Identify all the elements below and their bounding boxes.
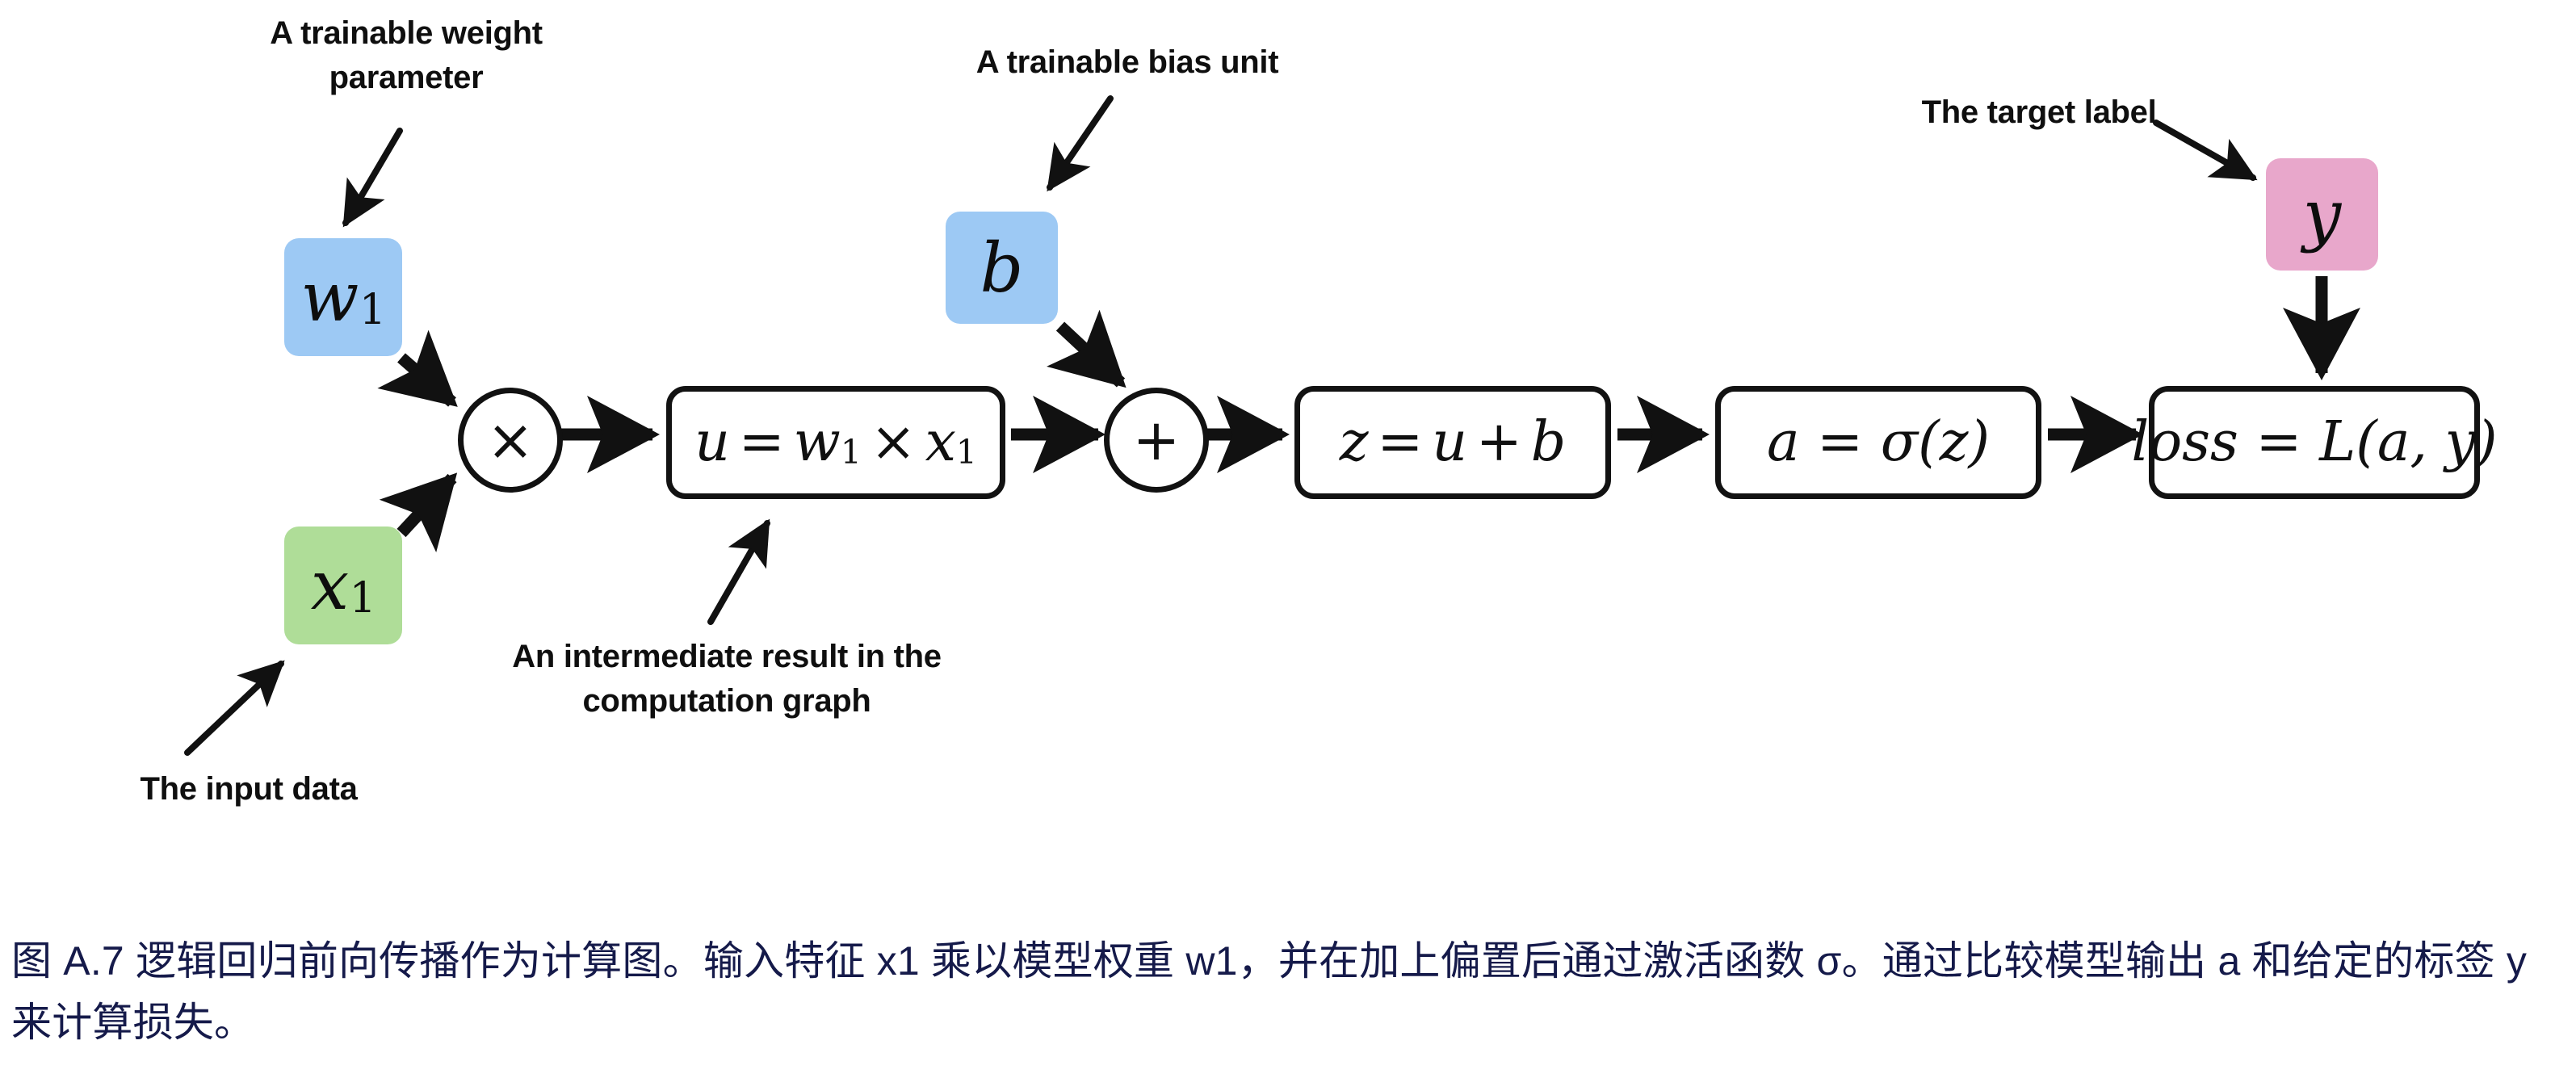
variable-base-y: y — [2303, 181, 2341, 249]
formula-z-operator: + — [1467, 415, 1531, 470]
formula-u-operator: × — [862, 415, 925, 470]
formula-box-a: a = σ(z) — [1715, 386, 2041, 499]
leader-weight-annotation — [346, 131, 400, 223]
variable-tile-x1: x1 — [284, 527, 402, 644]
formula-box-z: z=u+b — [1294, 386, 1611, 499]
formula-u-rhs-a: w — [794, 415, 841, 470]
bias-annotation-label: A trainable bias unit — [913, 40, 1341, 85]
formula-u-rhs-a-subscript: 1 — [841, 436, 862, 469]
leader-bias-annotation — [1050, 99, 1110, 187]
target-annotation-label: The target label — [1849, 90, 2229, 135]
variable-base-w: w — [300, 263, 359, 331]
variable-tile-b: b — [946, 212, 1058, 324]
variable-base-b: b — [980, 234, 1024, 302]
variable-tile-y: y — [2266, 158, 2378, 271]
multiply-operator-node: × — [458, 388, 563, 493]
formula-box-loss: loss = L(a, y) — [2149, 386, 2480, 499]
formula-z-rhs-b: b — [1531, 415, 1567, 470]
intermediate-annotation-label: An intermediate result in the computatio… — [436, 635, 1017, 724]
leader-intermediate-annotation — [711, 523, 767, 622]
input-annotation-label: The input data — [79, 767, 418, 812]
arrow-x1-to-multiply — [401, 478, 452, 533]
computational-graph-figure: w1 x1 b y × + u=w1×x1 z=u+b a = σ(z) los… — [0, 0, 2576, 912]
leader-input-annotation — [187, 664, 281, 753]
weight-annotation-label: A trainable weight parameter — [208, 11, 604, 100]
formula-u-rhs-b: x — [925, 415, 956, 470]
formula-z-rhs-a: u — [1432, 415, 1467, 470]
figure-caption: 图 A.7 逻辑回归前向传播作为计算图。输入特征 x1 乘以模型权重 w1，并在… — [11, 930, 2563, 1053]
arrow-b-to-add — [1060, 326, 1121, 383]
variable-subscript-w: 1 — [359, 289, 386, 331]
formula-loss-text: loss = L(a, y) — [2131, 415, 2497, 470]
variable-base-x: x — [311, 552, 349, 619]
formula-z-equals: = — [1369, 415, 1433, 470]
variable-tile-w1: w1 — [284, 238, 402, 356]
variable-subscript-x: 1 — [350, 577, 376, 619]
formula-a-text: a = σ(z) — [1767, 415, 1990, 470]
formula-u-rhs-b-subscript: 1 — [956, 436, 977, 469]
plus-icon: + — [1133, 412, 1181, 468]
formula-u-lhs: u — [694, 415, 730, 470]
formula-u-equals: = — [730, 415, 794, 470]
formula-box-u: u=w1×x1 — [666, 386, 1005, 499]
multiply-icon: × — [487, 412, 535, 468]
arrow-w1-to-multiply — [401, 358, 452, 402]
formula-z-lhs: z — [1340, 415, 1369, 470]
add-operator-node: + — [1104, 388, 1209, 493]
